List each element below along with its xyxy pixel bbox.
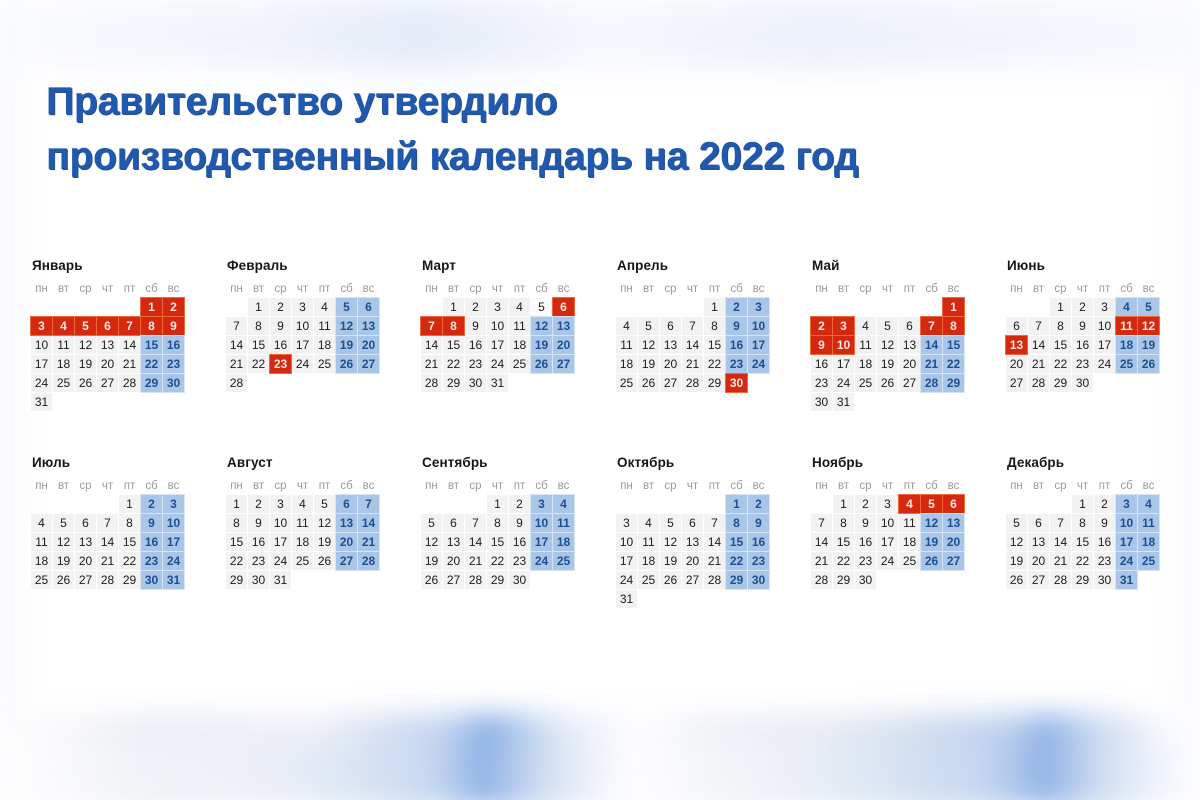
day-cell-workday[interactable]: 5 — [638, 317, 659, 335]
day-cell-workday[interactable]: 4 — [31, 514, 52, 532]
day-cell-workday[interactable]: 10 — [270, 514, 291, 532]
day-cell-workday[interactable]: 6 — [660, 317, 681, 335]
day-cell-workday[interactable]: 5 — [1006, 514, 1027, 532]
day-cell-workday[interactable]: 1 — [226, 495, 247, 513]
day-cell-weekend[interactable]: 25 — [1116, 355, 1137, 373]
day-cell-weekend[interactable]: 29 — [726, 571, 747, 589]
day-cell-workday[interactable]: 17 — [31, 355, 52, 373]
day-cell-weekend[interactable]: 30 — [748, 571, 769, 589]
day-cell-weekend[interactable]: 19 — [336, 336, 357, 354]
day-cell-workday[interactable]: 18 — [292, 533, 313, 551]
day-cell-workday[interactable]: 26 — [53, 571, 74, 589]
day-cell-weekend[interactable]: 10 — [1116, 514, 1137, 532]
day-cell-workday[interactable]: 30 — [855, 571, 876, 589]
day-cell-weekend[interactable]: 30 — [141, 571, 162, 589]
day-cell-weekend[interactable]: 10 — [163, 514, 184, 532]
day-cell-weekend[interactable]: 23 — [141, 552, 162, 570]
day-cell-workday[interactable]: 14 — [682, 336, 703, 354]
day-cell-weekend[interactable]: 13 — [553, 317, 574, 335]
day-cell-weekend[interactable]: 12 — [921, 514, 942, 532]
day-cell-workday[interactable]: 8 — [1072, 514, 1093, 532]
day-cell-holiday[interactable]: 7 — [921, 317, 942, 335]
day-cell-workday[interactable]: 16 — [811, 355, 832, 373]
day-cell-workday[interactable]: 30 — [811, 393, 832, 411]
day-cell-weekend[interactable]: 3 — [748, 298, 769, 316]
day-cell-workday[interactable]: 23 — [855, 552, 876, 570]
day-cell-weekend[interactable]: 27 — [336, 552, 357, 570]
day-cell-workday[interactable]: 25 — [509, 355, 530, 373]
day-cell-workday[interactable]: 21 — [682, 355, 703, 373]
day-cell-weekend[interactable]: 27 — [358, 355, 379, 373]
day-cell-workday[interactable]: 14 — [119, 336, 140, 354]
day-cell-workday[interactable]: 1 — [443, 298, 464, 316]
day-cell-weekend[interactable]: 24 — [748, 355, 769, 373]
day-cell-workday[interactable]: 9 — [509, 514, 530, 532]
day-cell-workday[interactable]: 18 — [855, 355, 876, 373]
day-cell-workday[interactable]: 9 — [1072, 317, 1093, 335]
day-cell-workday[interactable]: 31 — [487, 374, 508, 392]
day-cell-workday[interactable]: 2 — [270, 298, 291, 316]
day-cell-weekend[interactable]: 9 — [141, 514, 162, 532]
day-cell-workday[interactable]: 25 — [292, 552, 313, 570]
day-cell-workday[interactable]: 21 — [119, 355, 140, 373]
day-cell-workday[interactable]: 23 — [1094, 552, 1115, 570]
day-cell-workday[interactable]: 27 — [682, 571, 703, 589]
day-cell-workday[interactable]: 10 — [487, 317, 508, 335]
day-cell-weekend[interactable]: 13 — [358, 317, 379, 335]
day-cell-workday[interactable]: 2 — [1072, 298, 1093, 316]
day-cell-workday[interactable]: 27 — [1028, 571, 1049, 589]
day-cell-workday[interactable]: 12 — [660, 533, 681, 551]
day-cell-workday[interactable]: 8 — [248, 317, 269, 335]
day-cell-workday[interactable]: 1 — [833, 495, 854, 513]
day-cell-workday[interactable]: 17 — [833, 355, 854, 373]
day-cell-workday[interactable]: 1 — [119, 495, 140, 513]
day-cell-weekend[interactable]: 21 — [921, 355, 942, 373]
day-cell-workday[interactable]: 16 — [509, 533, 530, 551]
day-cell-workday[interactable]: 1 — [704, 298, 725, 316]
day-cell-weekend[interactable]: 24 — [1116, 552, 1137, 570]
day-cell-workday[interactable]: 22 — [248, 355, 269, 373]
day-cell-workday[interactable]: 21 — [465, 552, 486, 570]
day-cell-workday[interactable]: 6 — [1006, 317, 1027, 335]
day-cell-weekend[interactable]: 14 — [921, 336, 942, 354]
day-cell-workday[interactable]: 22 — [1050, 355, 1071, 373]
day-cell-workday[interactable]: 5 — [877, 317, 898, 335]
day-cell-weekend[interactable]: 22 — [726, 552, 747, 570]
day-cell-weekend[interactable]: 24 — [531, 552, 552, 570]
day-cell-workday[interactable]: 20 — [443, 552, 464, 570]
day-cell-workday[interactable]: 16 — [1094, 533, 1115, 551]
day-cell-weekend[interactable]: 22 — [943, 355, 964, 373]
day-cell-workday[interactable]: 19 — [75, 355, 96, 373]
day-cell-weekend[interactable]: 12 — [531, 317, 552, 335]
day-cell-workday[interactable]: 29 — [833, 571, 854, 589]
day-cell-weekend[interactable]: 21 — [358, 533, 379, 551]
day-cell-workday[interactable]: 13 — [899, 336, 920, 354]
day-cell-workday[interactable]: 11 — [292, 514, 313, 532]
day-cell-workday[interactable]: 4 — [509, 298, 530, 316]
day-cell-workday[interactable]: 18 — [616, 355, 637, 373]
day-cell-workday[interactable]: 16 — [1072, 336, 1093, 354]
day-cell-weekend[interactable]: 3 — [1116, 495, 1137, 513]
day-cell-weekend[interactable]: 13 — [336, 514, 357, 532]
day-cell-holiday[interactable]: 4 — [53, 317, 74, 335]
day-cell-weekend[interactable]: 27 — [943, 552, 964, 570]
day-cell-workday[interactable]: 21 — [226, 355, 247, 373]
day-cell-workday[interactable]: 12 — [638, 336, 659, 354]
day-cell-holiday[interactable]: 4 — [899, 495, 920, 513]
day-cell-workday[interactable]: 18 — [53, 355, 74, 373]
day-cell-weekend[interactable]: 5 — [336, 298, 357, 316]
day-cell-workday[interactable]: 20 — [75, 552, 96, 570]
day-cell-workday[interactable]: 13 — [443, 533, 464, 551]
day-cell-weekend[interactable]: 15 — [726, 533, 747, 551]
day-cell-holiday[interactable]: 3 — [31, 317, 52, 335]
day-cell-workday[interactable]: 23 — [248, 552, 269, 570]
day-cell-holiday[interactable]: 5 — [921, 495, 942, 513]
day-cell-workday[interactable]: 18 — [509, 336, 530, 354]
day-cell-weekend[interactable]: 16 — [726, 336, 747, 354]
day-cell-workday[interactable]: 8 — [226, 514, 247, 532]
day-cell-workday[interactable]: 15 — [833, 533, 854, 551]
day-cell-workday[interactable]: 12 — [1006, 533, 1027, 551]
day-cell-workday[interactable]: 3 — [1094, 298, 1115, 316]
day-cell-workday[interactable]: 2 — [248, 495, 269, 513]
day-cell-workday[interactable]: 14 — [97, 533, 118, 551]
day-cell-workday[interactable]: 13 — [1028, 533, 1049, 551]
day-cell-workday[interactable]: 11 — [638, 533, 659, 551]
day-cell-workday[interactable]: 21 — [1050, 552, 1071, 570]
day-cell-workday[interactable]: 19 — [53, 552, 74, 570]
day-cell-workday[interactable]: 26 — [421, 571, 442, 589]
day-cell-workday[interactable]: 18 — [638, 552, 659, 570]
day-cell-weekend[interactable]: 29 — [943, 374, 964, 392]
day-cell-workday[interactable]: 14 — [421, 336, 442, 354]
day-cell-workday[interactable]: 26 — [1006, 571, 1027, 589]
day-cell-workday[interactable]: 12 — [877, 336, 898, 354]
day-cell-workday[interactable]: 22 — [226, 552, 247, 570]
day-cell-workday[interactable]: 17 — [877, 533, 898, 551]
day-cell-workday[interactable]: 30 — [465, 374, 486, 392]
day-cell-workday[interactable]: 9 — [465, 317, 486, 335]
day-cell-weekend[interactable]: 18 — [1138, 533, 1159, 551]
day-cell-workday[interactable]: 17 — [1094, 336, 1115, 354]
day-cell-workday[interactable]: 30 — [509, 571, 530, 589]
day-cell-workday[interactable]: 24 — [616, 571, 637, 589]
day-cell-workday[interactable]: 31 — [31, 393, 52, 411]
day-cell-weekend[interactable]: 6 — [358, 298, 379, 316]
day-cell-weekend[interactable]: 17 — [1116, 533, 1137, 551]
day-cell-workday[interactable]: 21 — [811, 552, 832, 570]
day-cell-workday[interactable]: 24 — [292, 355, 313, 373]
day-cell-workday[interactable]: 25 — [638, 571, 659, 589]
day-cell-workday[interactable]: 26 — [877, 374, 898, 392]
day-cell-holiday[interactable]: 23 — [270, 355, 291, 373]
day-cell-holiday[interactable]: 5 — [75, 317, 96, 335]
day-cell-workday[interactable]: 16 — [270, 336, 291, 354]
day-cell-workday[interactable]: 25 — [855, 374, 876, 392]
day-cell-workday[interactable]: 9 — [270, 317, 291, 335]
day-cell-workday[interactable]: 14 — [811, 533, 832, 551]
day-cell-workday[interactable]: 6 — [1028, 514, 1049, 532]
day-cell-weekend[interactable]: 20 — [358, 336, 379, 354]
day-cell-workday[interactable]: 5 — [421, 514, 442, 532]
day-cell-workday[interactable]: 18 — [899, 533, 920, 551]
day-cell-workday[interactable]: 14 — [704, 533, 725, 551]
day-cell-workday[interactable]: 16 — [465, 336, 486, 354]
day-cell-weekend[interactable]: 11 — [553, 514, 574, 532]
day-cell-holiday[interactable]: 6 — [943, 495, 964, 513]
day-cell-workday[interactable]: 10 — [877, 514, 898, 532]
day-cell-workday[interactable]: 5 — [53, 514, 74, 532]
day-cell-workday[interactable]: 11 — [509, 317, 530, 335]
day-cell-workday[interactable]: 19 — [877, 355, 898, 373]
day-cell-workday[interactable]: 3 — [616, 514, 637, 532]
day-cell-workday[interactable]: 29 — [1072, 571, 1093, 589]
day-cell-workday[interactable]: 14 — [226, 336, 247, 354]
day-cell-workday[interactable]: 11 — [314, 317, 335, 335]
day-cell-workday[interactable]: 12 — [53, 533, 74, 551]
day-cell-workday[interactable]: 23 — [465, 355, 486, 373]
day-cell-workday[interactable]: 28 — [811, 571, 832, 589]
day-cell-weekend[interactable]: 2 — [748, 495, 769, 513]
day-cell-workday[interactable]: 29 — [443, 374, 464, 392]
day-cell-workday[interactable]: 30 — [248, 571, 269, 589]
day-cell-weekend[interactable]: 8 — [726, 514, 747, 532]
day-cell-workday[interactable]: 25 — [314, 355, 335, 373]
day-cell-weekend[interactable]: 19 — [921, 533, 942, 551]
day-cell-workday[interactable]: 15 — [487, 533, 508, 551]
day-cell-weekend[interactable]: 2 — [141, 495, 162, 513]
day-cell-workday[interactable]: 3 — [487, 298, 508, 316]
day-cell-holiday[interactable]: 7 — [421, 317, 442, 335]
day-cell-holiday[interactable]: 8 — [943, 317, 964, 335]
day-cell-workday[interactable]: 26 — [660, 571, 681, 589]
day-cell-workday[interactable]: 7 — [811, 514, 832, 532]
day-cell-holiday[interactable]: 9 — [811, 336, 832, 354]
day-cell-workday[interactable]: 28 — [704, 571, 725, 589]
day-cell-weekend[interactable]: 4 — [1138, 495, 1159, 513]
day-cell-workday[interactable]: 12 — [421, 533, 442, 551]
day-cell-workday[interactable]: 26 — [75, 374, 96, 392]
day-cell-workday[interactable]: 6 — [899, 317, 920, 335]
day-cell-workday[interactable]: 1 — [248, 298, 269, 316]
day-cell-workday[interactable]: 18 — [314, 336, 335, 354]
day-cell-weekend[interactable]: 15 — [141, 336, 162, 354]
day-cell-weekend[interactable]: 30 — [163, 374, 184, 392]
day-cell-holiday[interactable]: 6 — [97, 317, 118, 335]
day-cell-weekend[interactable]: 26 — [336, 355, 357, 373]
day-cell-workday[interactable]: 8 — [119, 514, 140, 532]
day-cell-weekend[interactable]: 23 — [748, 552, 769, 570]
day-cell-workday[interactable]: 9 — [855, 514, 876, 532]
day-cell-workday[interactable]: 30 — [1094, 571, 1115, 589]
day-cell-weekend[interactable]: 14 — [358, 514, 379, 532]
day-cell-workday[interactable]: 27 — [660, 374, 681, 392]
day-cell-workday[interactable]: 1 — [487, 495, 508, 513]
day-cell-workday[interactable]: 20 — [97, 355, 118, 373]
day-cell-workday[interactable]: 7 — [97, 514, 118, 532]
day-cell-workday[interactable]: 16 — [248, 533, 269, 551]
day-cell-weekend[interactable]: 18 — [1116, 336, 1137, 354]
day-cell-workday[interactable]: 8 — [833, 514, 854, 532]
day-cell-workday[interactable]: 12 — [75, 336, 96, 354]
day-cell-workday[interactable]: 6 — [75, 514, 96, 532]
day-cell-workday[interactable]: 15 — [1072, 533, 1093, 551]
day-cell-weekend[interactable]: 10 — [531, 514, 552, 532]
day-cell-workday[interactable]: 15 — [119, 533, 140, 551]
day-cell-workday[interactable]: 3 — [292, 298, 313, 316]
day-cell-workday[interactable]: 25 — [53, 374, 74, 392]
day-cell-workday[interactable]: 4 — [855, 317, 876, 335]
day-cell-weekend[interactable]: 2 — [726, 298, 747, 316]
day-cell-workday[interactable]: 17 — [270, 533, 291, 551]
day-cell-workday[interactable]: 26 — [314, 552, 335, 570]
day-cell-weekend[interactable]: 26 — [1138, 355, 1159, 373]
day-cell-workday[interactable]: 22 — [487, 552, 508, 570]
day-cell-workday[interactable]: 31 — [270, 571, 291, 589]
day-cell-holiday[interactable]: 10 — [833, 336, 854, 354]
day-cell-workday[interactable]: 27 — [75, 571, 96, 589]
day-cell-workday[interactable]: 19 — [1006, 552, 1027, 570]
day-cell-workday[interactable]: 24 — [487, 355, 508, 373]
day-cell-weekend[interactable]: 4 — [553, 495, 574, 513]
day-cell-workday[interactable]: 4 — [616, 317, 637, 335]
day-cell-weekend[interactable]: 13 — [943, 514, 964, 532]
day-cell-workday[interactable]: 9 — [1094, 514, 1115, 532]
day-cell-workday[interactable]: 14 — [465, 533, 486, 551]
day-cell-weekend[interactable]: 9 — [726, 317, 747, 335]
day-cell-workday[interactable]: 4 — [638, 514, 659, 532]
day-cell-workday[interactable]: 21 — [97, 552, 118, 570]
day-cell-workday[interactable]: 20 — [1028, 552, 1049, 570]
day-cell-workday[interactable]: 30 — [1072, 374, 1093, 392]
day-cell-weekend[interactable]: 23 — [726, 355, 747, 373]
day-cell-workday[interactable]: 28 — [421, 374, 442, 392]
day-cell-weekend[interactable]: 28 — [358, 552, 379, 570]
day-cell-workday[interactable]: 19 — [314, 533, 335, 551]
day-cell-holiday[interactable]: 2 — [811, 317, 832, 335]
day-cell-workday[interactable]: 10 — [31, 336, 52, 354]
day-cell-holiday[interactable]: 1 — [943, 298, 964, 316]
day-cell-workday[interactable]: 24 — [833, 374, 854, 392]
day-cell-workday[interactable]: 15 — [248, 336, 269, 354]
day-cell-workday[interactable]: 29 — [119, 571, 140, 589]
day-cell-holiday[interactable]: 8 — [141, 317, 162, 335]
day-cell-workday[interactable]: 7 — [226, 317, 247, 335]
day-cell-workday[interactable]: 22 — [119, 552, 140, 570]
day-cell-weekend[interactable]: 26 — [531, 355, 552, 373]
day-cell-workday[interactable]: 6 — [682, 514, 703, 532]
day-cell-workday[interactable]: 16 — [855, 533, 876, 551]
day-cell-workday[interactable]: 21 — [1028, 355, 1049, 373]
day-cell-workday[interactable]: 15 — [704, 336, 725, 354]
day-cell-workday[interactable]: 17 — [487, 336, 508, 354]
day-cell-workday[interactable]: 10 — [292, 317, 313, 335]
day-cell-holiday[interactable]: 30 — [726, 374, 747, 392]
day-cell-workday[interactable]: 19 — [638, 355, 659, 373]
day-cell-weekend[interactable]: 3 — [531, 495, 552, 513]
day-cell-workday[interactable]: 3 — [877, 495, 898, 513]
day-cell-workday[interactable]: 15 — [226, 533, 247, 551]
day-cell-workday[interactable]: 11 — [899, 514, 920, 532]
day-cell-weekend[interactable]: 26 — [921, 552, 942, 570]
day-cell-workday[interactable]: 27 — [899, 374, 920, 392]
day-cell-workday[interactable]: 17 — [292, 336, 313, 354]
day-cell-holiday[interactable]: 2 — [163, 298, 184, 316]
day-cell-workday[interactable]: 14 — [1050, 533, 1071, 551]
day-cell-workday[interactable]: 12 — [314, 514, 335, 532]
day-cell-holiday[interactable]: 12 — [1138, 317, 1159, 335]
day-cell-holiday[interactable]: 8 — [443, 317, 464, 335]
day-cell-workday[interactable]: 19 — [421, 552, 442, 570]
day-cell-workday[interactable]: 8 — [704, 317, 725, 335]
day-cell-workday[interactable]: 1 — [1050, 298, 1071, 316]
day-cell-weekend[interactable]: 16 — [141, 533, 162, 551]
day-cell-workday[interactable]: 11 — [855, 336, 876, 354]
day-cell-weekend[interactable]: 6 — [336, 495, 357, 513]
day-cell-workday[interactable]: 7 — [1050, 514, 1071, 532]
day-cell-workday[interactable]: 18 — [31, 552, 52, 570]
day-cell-workday[interactable]: 29 — [704, 374, 725, 392]
day-cell-weekend[interactable]: 17 — [531, 533, 552, 551]
day-cell-workday[interactable]: 28 — [226, 374, 247, 392]
day-cell-weekend[interactable]: 12 — [336, 317, 357, 335]
day-cell-weekend[interactable]: 3 — [163, 495, 184, 513]
day-cell-workday[interactable]: 20 — [899, 355, 920, 373]
day-cell-holiday[interactable]: 9 — [163, 317, 184, 335]
day-cell-workday[interactable]: 9 — [248, 514, 269, 532]
day-cell-weekend[interactable]: 19 — [1138, 336, 1159, 354]
day-cell-workday[interactable]: 24 — [270, 552, 291, 570]
day-cell-workday[interactable]: 2 — [1094, 495, 1115, 513]
day-cell-weekend[interactable]: 28 — [921, 374, 942, 392]
day-cell-holiday[interactable]: 7 — [119, 317, 140, 335]
day-cell-workday[interactable]: 20 — [660, 355, 681, 373]
day-cell-workday[interactable]: 13 — [97, 336, 118, 354]
day-cell-workday[interactable]: 21 — [421, 355, 442, 373]
day-cell-workday[interactable]: 29 — [1050, 374, 1071, 392]
day-cell-weekend[interactable]: 5 — [1138, 298, 1159, 316]
day-cell-workday[interactable]: 10 — [616, 533, 637, 551]
day-cell-workday[interactable]: 15 — [1050, 336, 1071, 354]
day-cell-workday[interactable]: 11 — [53, 336, 74, 354]
day-cell-workday[interactable]: 14 — [1028, 336, 1049, 354]
day-cell-workday[interactable]: 22 — [833, 552, 854, 570]
day-cell-workday[interactable]: 23 — [509, 552, 530, 570]
day-cell-workday[interactable]: 22 — [704, 355, 725, 373]
day-cell-workday[interactable]: 13 — [660, 336, 681, 354]
day-cell-weekend[interactable]: 19 — [531, 336, 552, 354]
day-cell-workday[interactable]: 31 — [616, 590, 637, 608]
day-cell-weekend[interactable]: 4 — [1116, 298, 1137, 316]
day-cell-workday[interactable]: 24 — [1094, 355, 1115, 373]
day-cell-workday[interactable]: 24 — [877, 552, 898, 570]
day-cell-workday[interactable]: 5 — [660, 514, 681, 532]
day-cell-workday[interactable]: 21 — [704, 552, 725, 570]
day-cell-holiday[interactable]: 11 — [1116, 317, 1137, 335]
day-cell-weekend[interactable]: 10 — [748, 317, 769, 335]
day-cell-weekend[interactable]: 1 — [726, 495, 747, 513]
day-cell-weekend[interactable]: 15 — [943, 336, 964, 354]
day-cell-workday[interactable]: 29 — [226, 571, 247, 589]
day-cell-workday[interactable]: 4 — [292, 495, 313, 513]
day-cell-weekend[interactable]: 20 — [553, 336, 574, 354]
day-cell-workday[interactable]: 25 — [899, 552, 920, 570]
day-cell-workday[interactable]: 17 — [616, 552, 637, 570]
day-cell-weekend[interactable]: 16 — [748, 533, 769, 551]
